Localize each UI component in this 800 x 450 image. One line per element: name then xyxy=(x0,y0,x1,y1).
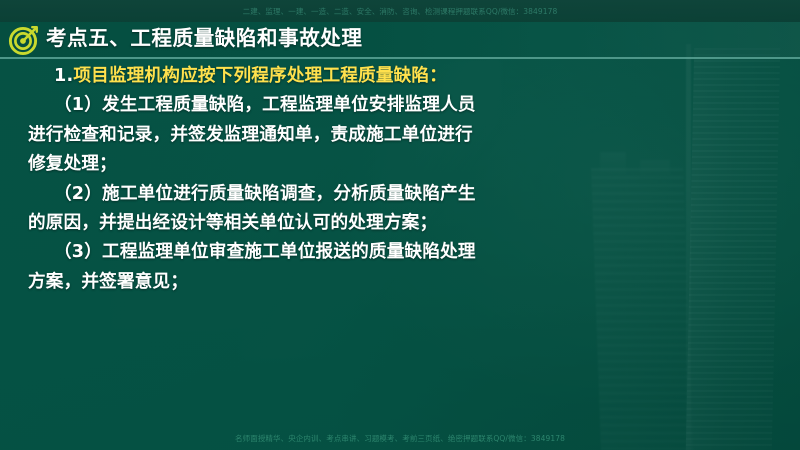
paragraph-1-line-3: 修复处理； xyxy=(28,150,780,179)
slide-title-bar: 考点五、工程质量缺陷和事故处理 xyxy=(0,22,800,57)
content-heading-number: 1. xyxy=(54,66,73,86)
promo-banner-bottom-text: 名师面授精华、央企内训、考点串讲、习题模考、考前三页纸、绝密押题联系QQ/微信：… xyxy=(235,433,565,444)
promo-banner-bottom: 名师面授精华、央企内训、考点串讲、习题模考、考前三页纸、绝密押题联系QQ/微信：… xyxy=(0,433,800,444)
paragraph-1-line-2: 进行检查和记录，并签发监理通知单，责成施工单位进行 xyxy=(28,121,780,150)
title-divider-line xyxy=(0,57,800,59)
paragraph-3-line-1: （3）工程监理单位审查施工单位报送的质量缺陷处理 xyxy=(28,238,780,267)
page-title: 考点五、工程质量缺陷和事故处理 xyxy=(46,29,363,50)
paragraph-3-line-2: 方案，并签署意见； xyxy=(28,268,780,297)
slide-body: 1.项目监理机构应按下列程序处理工程质量缺陷： （1）发生工程质量缺陷，工程监理… xyxy=(0,62,800,297)
slide-canvas: 二建、监理、一建、一造、二造、安全、消防、咨询、检测课程押题联系QQ/微信：38… xyxy=(0,0,800,450)
paragraph-2-line-2: 的原因，并提出经设计等相关单位认可的处理方案； xyxy=(28,209,780,238)
paragraph-1-line-1: （1）发生工程质量缺陷，工程监理单位安排监理人员 xyxy=(28,91,780,120)
content-heading: 1.项目监理机构应按下列程序处理工程质量缺陷： xyxy=(28,62,780,91)
promo-banner-top: 二建、监理、一建、一造、二造、安全、消防、咨询、检测课程押题联系QQ/微信：38… xyxy=(0,0,800,22)
paragraph-2-line-1: （2）施工单位进行质量缺陷调查，分析质量缺陷产生 xyxy=(28,180,780,209)
target-bullseye-icon xyxy=(8,24,40,56)
promo-banner-top-text: 二建、监理、一建、一造、二造、安全、消防、咨询、检测课程押题联系QQ/微信：38… xyxy=(243,6,558,17)
content-heading-text: 项目监理机构应按下列程序处理工程质量缺陷： xyxy=(73,66,447,86)
